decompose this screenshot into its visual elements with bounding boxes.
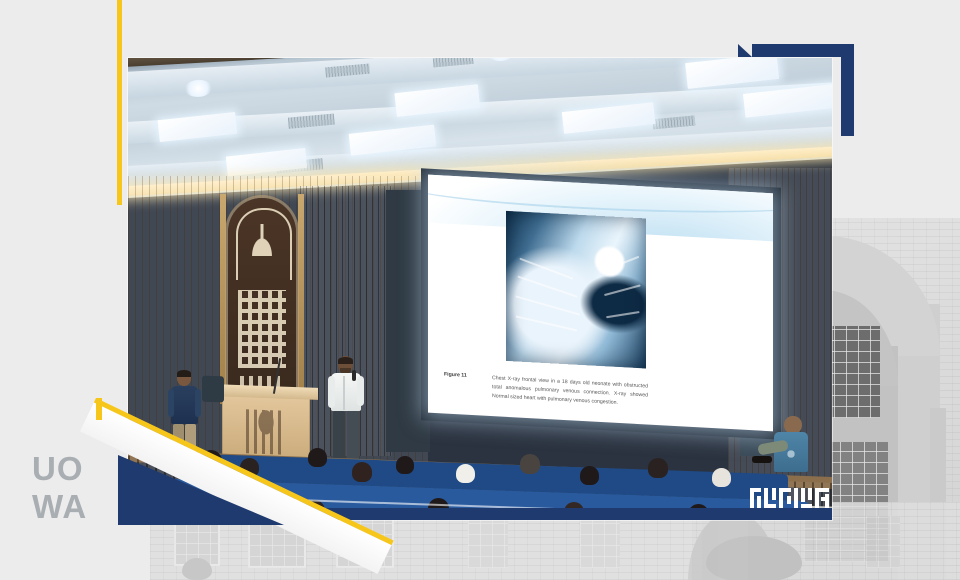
- ribbon-cap: [96, 398, 102, 420]
- wall-emblem: [228, 198, 296, 398]
- seated-attendee: [758, 416, 816, 482]
- figure-label: Figure 11: [444, 372, 488, 380]
- emblem-frame-left: [220, 194, 226, 404]
- speaker: [326, 356, 366, 466]
- podium-monitor: [202, 376, 224, 403]
- arabic-logo: [750, 488, 832, 508]
- projection-screen: Figure 11 Chest X-ray frontal view in a …: [428, 175, 773, 432]
- emblem-frame-right: [298, 194, 304, 404]
- uowa-line-2: WA: [32, 490, 106, 523]
- left-yellow-rule: [117, 0, 122, 205]
- figure-caption: Chest X-ray frontal view in a 18 days ol…: [492, 374, 648, 410]
- event-photo: Figure 11 Chest X-ray frontal view in a …: [128, 58, 832, 520]
- uowa-line-1: UO: [32, 452, 106, 485]
- poster-canvas: Figure 11 Chest X-ray frontal view in a …: [0, 0, 960, 580]
- uowa-wordmark: UO WA: [32, 452, 106, 526]
- xray-image: [506, 211, 646, 369]
